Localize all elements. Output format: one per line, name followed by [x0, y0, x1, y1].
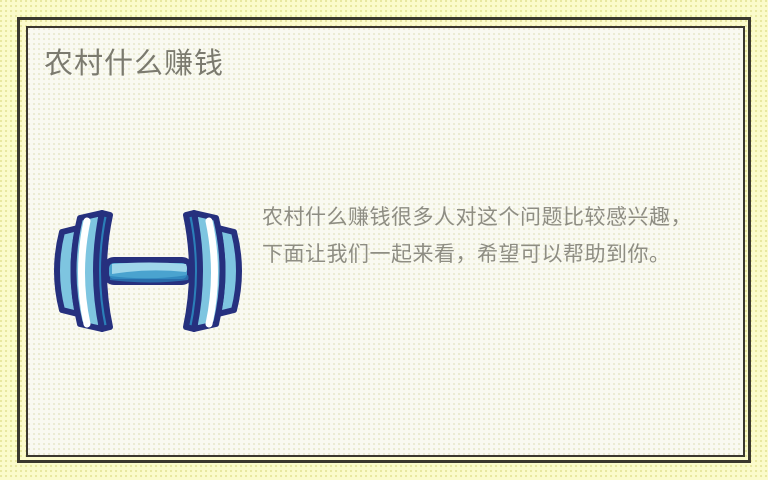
dumbbell-illustration: [40, 196, 256, 346]
page-title: 农村什么赚钱: [44, 46, 224, 81]
body-paragraph: 农村什么赚钱很多人对这个问题比较感兴趣，下面让我们一起来看，希望可以帮助到你。: [262, 199, 710, 273]
dumbbell-icon: [40, 196, 256, 346]
page-canvas: 农村什么赚钱: [0, 0, 768, 480]
